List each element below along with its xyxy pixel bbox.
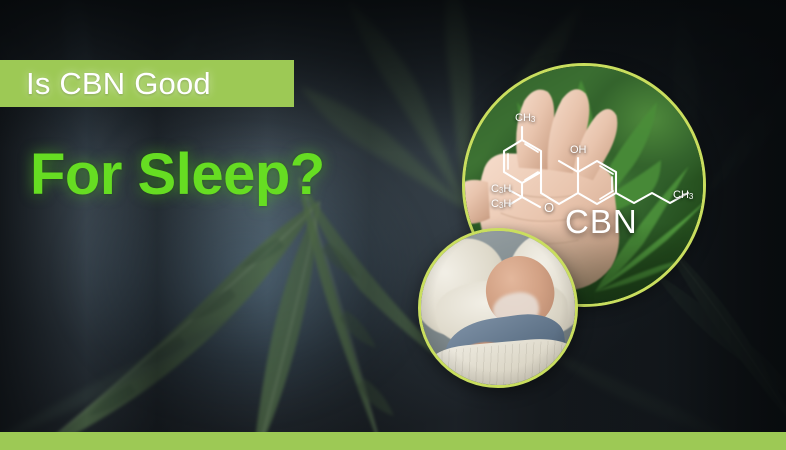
bottom-accent-bar: [0, 432, 786, 450]
label-pentyl-terminal: CH3: [673, 190, 693, 201]
title-banner: Is CBN Good: [0, 60, 294, 107]
label-gem-methyl-upper: C3H: [491, 184, 511, 195]
label-methyl-top: CH3: [515, 113, 535, 124]
label-ring-oxygen: O: [544, 201, 554, 214]
title-line-one: Is CBN Good: [0, 68, 211, 99]
label-hydroxyl: OH: [570, 145, 587, 156]
title-line-two: For Sleep?: [30, 146, 325, 204]
sleep-photo: [421, 231, 575, 385]
sleeping-man-circle-image: [418, 228, 578, 388]
label-gem-methyl-lower: C3H: [491, 199, 511, 210]
compound-name-label: CBN: [565, 203, 638, 241]
thumbnail-canvas: CH3 OH C3H C3H O CH3 CBN Is CBN Good For: [0, 0, 786, 450]
photo-vignette: [421, 231, 575, 385]
